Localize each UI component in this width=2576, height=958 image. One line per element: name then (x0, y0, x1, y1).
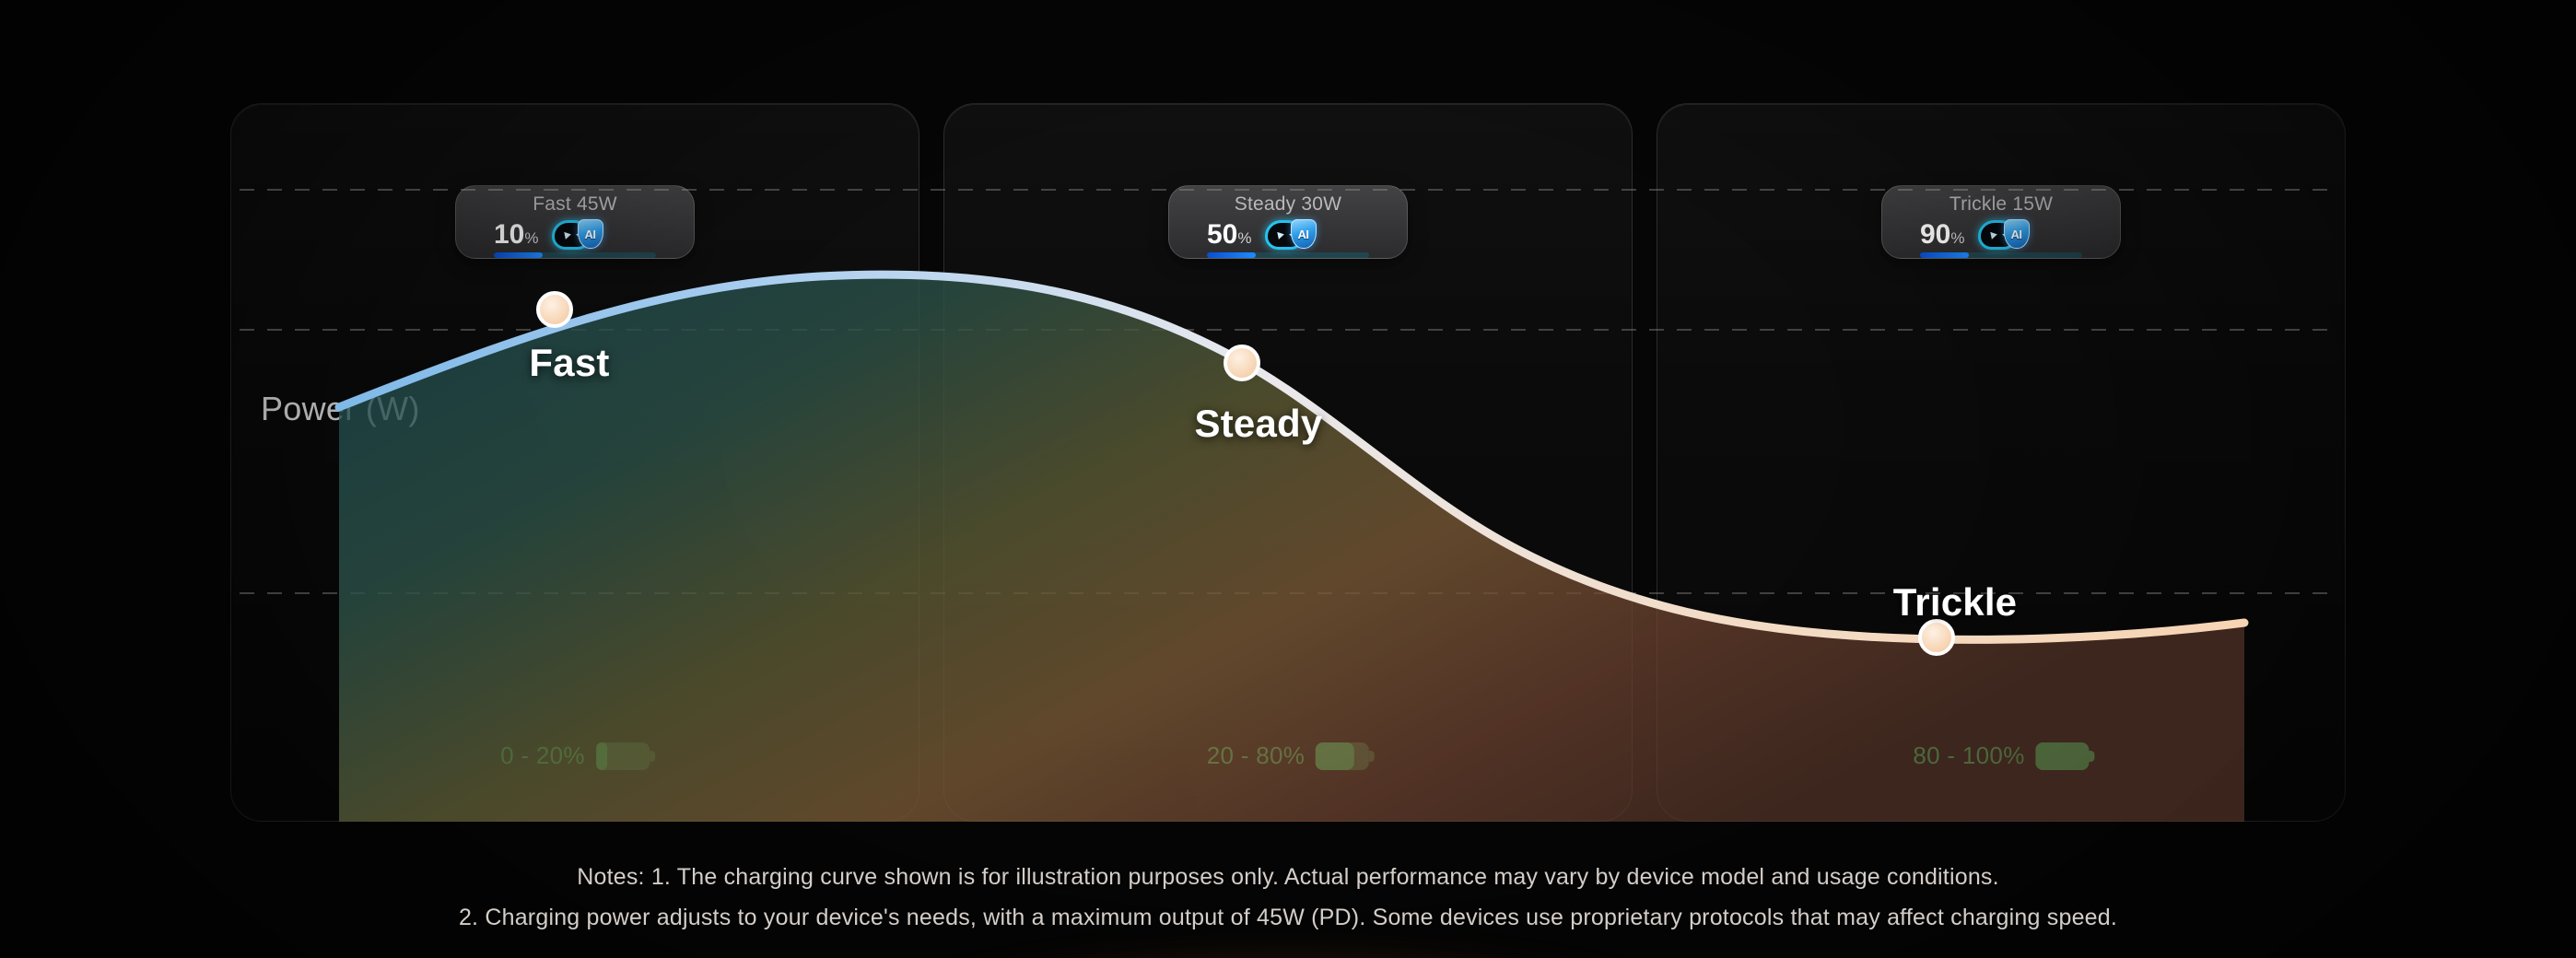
curve-label-fast: Fast (529, 341, 609, 385)
battery-fill (2036, 742, 2090, 770)
battery-range-trickle: 80 - 100% (1913, 742, 2089, 770)
shield-label: AI (1298, 228, 1309, 241)
pill-percent-symbol: % (524, 229, 538, 247)
ai-mascot-icon: AI (1976, 219, 2030, 251)
pill-title: Trickle 15W (1950, 194, 2053, 214)
ai-mascot-icon: AI (1263, 219, 1317, 251)
pill-progress-fill (494, 252, 543, 258)
pill-percent-symbol: % (1237, 229, 1251, 247)
pill-progress-fill (1207, 252, 1256, 258)
ai-mascot-icon: AI (550, 219, 603, 251)
axis-label-power: Power (W) (261, 390, 420, 428)
status-pill-fast[interactable]: Fast 45W 10% AI (455, 185, 695, 259)
pill-progress-track (1920, 252, 2082, 258)
battery-icon (2036, 742, 2090, 770)
battery-range-label: 0 - 20% (500, 742, 585, 770)
pill-percent: 90% (1920, 221, 1965, 249)
status-pill-trickle[interactable]: Trickle 15W 90% AI (1881, 185, 2121, 259)
pill-title: Steady 30W (1235, 194, 1341, 214)
battery-tip-icon (650, 751, 655, 762)
curve-label-steady: Steady (1195, 402, 1323, 446)
battery-fill (1316, 742, 1354, 770)
ai-shield-badge-icon: AI (1291, 219, 1317, 249)
battery-fill (596, 742, 608, 770)
battery-range-label: 80 - 100% (1913, 742, 2024, 770)
mascot-eye-left-icon (1275, 232, 1284, 240)
pill-progress-track (494, 252, 656, 258)
battery-icon (596, 742, 650, 770)
charging-stage-cards: Fast 45W 10% AI Power (W) 0 - 20% (230, 103, 2346, 822)
card-steady[interactable]: Steady 30W 50% AI 20 - 80% (943, 103, 1633, 822)
status-pill-steady[interactable]: Steady 30W 50% AI (1168, 185, 1408, 259)
card-fast[interactable]: Fast 45W 10% AI Power (W) 0 - 20% (230, 103, 919, 822)
battery-tip-icon (2090, 751, 2095, 762)
ai-shield-badge-icon: AI (2004, 219, 2030, 249)
battery-range-steady: 20 - 80% (1207, 742, 1369, 770)
pill-percent: 50% (1207, 221, 1252, 249)
note-line-2: 2. Charging power adjusts to your device… (0, 897, 2576, 938)
battery-range-fast: 0 - 20% (500, 742, 650, 770)
mascot-eye-left-icon (562, 232, 571, 240)
shield-label: AI (585, 228, 596, 241)
mascot-eye-left-icon (1988, 232, 1997, 240)
ai-shield-badge-icon: AI (578, 219, 603, 249)
pill-progress-track (1207, 252, 1369, 258)
pill-percent-symbol: % (1950, 229, 1964, 247)
shield-label: AI (2011, 228, 2022, 241)
card-trickle[interactable]: Trickle 15W 90% AI 80 - 100% (1657, 103, 2346, 822)
pill-percent: 10% (494, 221, 539, 249)
notes-block: Notes: 1. The charging curve shown is fo… (0, 857, 2576, 938)
battery-tip-icon (1369, 751, 1375, 762)
pill-readout: 10% AI (494, 219, 656, 249)
pill-progress-fill (1920, 252, 1969, 258)
curve-label-trickle: Trickle (1893, 580, 2018, 625)
pill-readout: 50% AI (1207, 219, 1369, 249)
battery-range-label: 20 - 80% (1207, 742, 1305, 770)
note-line-1: Notes: 1. The charging curve shown is fo… (0, 857, 2576, 897)
battery-icon (1316, 742, 1369, 770)
pill-title: Fast 45W (533, 194, 616, 214)
pill-readout: 90% AI (1920, 219, 2082, 249)
